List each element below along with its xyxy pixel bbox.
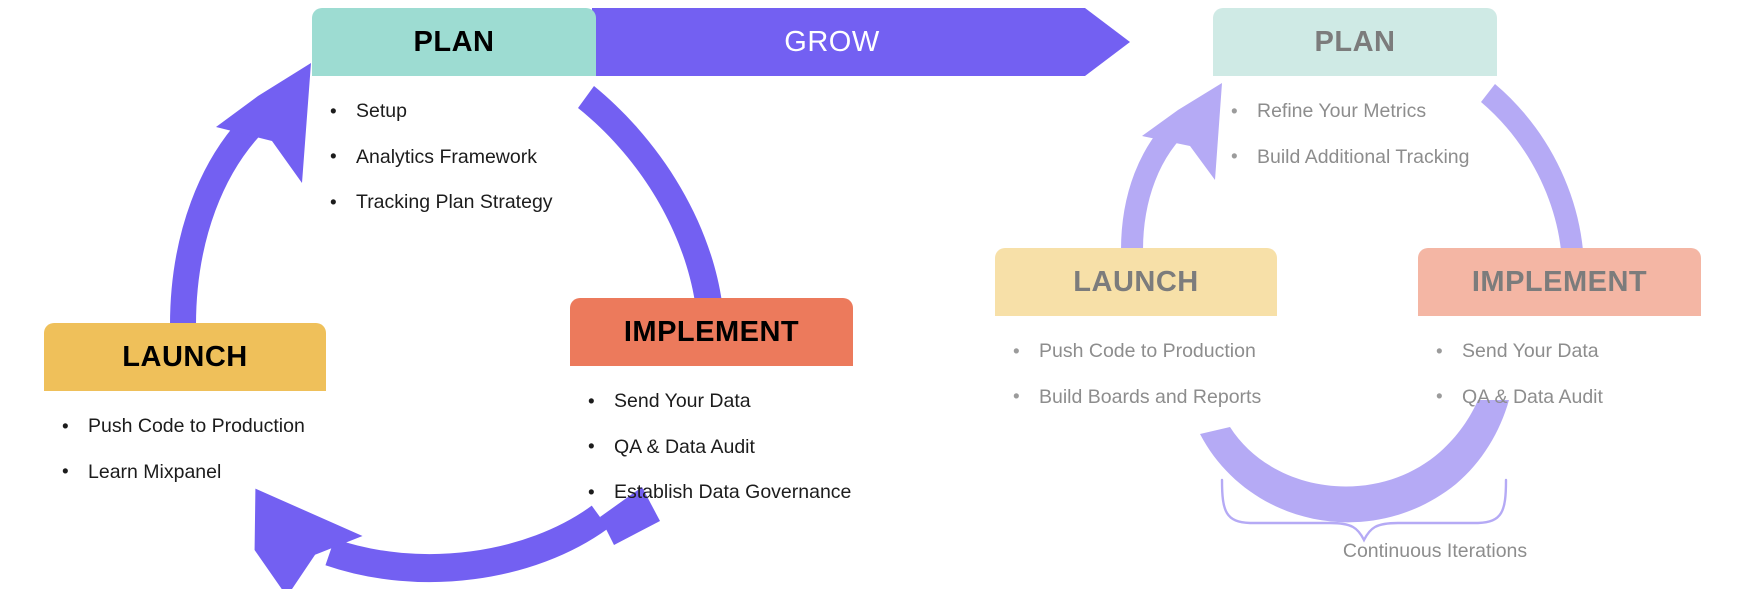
list-item: •Establish Data Governance bbox=[570, 483, 860, 503]
list-item: •Learn Mixpanel bbox=[44, 463, 334, 483]
stage-launch-next[interactable]: LAUNCH •Push Code to Production •Build B… bbox=[995, 248, 1285, 407]
stage-launch-active-title: LAUNCH bbox=[44, 323, 326, 391]
list-item: •Build Additional Tracking bbox=[1213, 148, 1503, 168]
stage-plan-next-title: PLAN bbox=[1213, 8, 1497, 76]
list-item: •Send Your Data bbox=[1418, 342, 1708, 362]
list-item-label: Learn Mixpanel bbox=[88, 461, 221, 483]
stage-plan-active-items: •Setup •Analytics Framework •Tracking Pl… bbox=[312, 102, 602, 213]
list-item: •QA & Data Audit bbox=[570, 438, 860, 458]
list-item-label: Send Your Data bbox=[614, 390, 751, 412]
bullet-icon: • bbox=[588, 483, 595, 502]
bullet-icon: • bbox=[1231, 102, 1238, 121]
bullet-icon: • bbox=[330, 148, 337, 167]
bullet-icon: • bbox=[588, 438, 595, 457]
stage-launch-active[interactable]: LAUNCH •Push Code to Production •Learn M… bbox=[44, 323, 334, 482]
list-item-label: QA & Data Audit bbox=[1462, 386, 1603, 408]
stage-implement-active[interactable]: IMPLEMENT •Send Your Data •QA & Data Aud… bbox=[570, 298, 860, 503]
list-item-label: Send Your Data bbox=[1462, 340, 1599, 362]
bullet-icon: • bbox=[1013, 388, 1020, 407]
stage-launch-next-title: LAUNCH bbox=[995, 248, 1277, 316]
continuous-iterations-brace bbox=[1222, 480, 1506, 540]
list-item-label: Refine Your Metrics bbox=[1257, 100, 1426, 122]
list-item: •Push Code to Production bbox=[995, 342, 1285, 362]
continuous-iterations-label: Continuous Iterations bbox=[1255, 540, 1615, 563]
list-item: •Push Code to Production bbox=[44, 417, 334, 437]
stage-plan-next-items: •Refine Your Metrics •Build Additional T… bbox=[1213, 102, 1503, 167]
stage-implement-active-title: IMPLEMENT bbox=[570, 298, 853, 366]
bullet-icon: • bbox=[330, 193, 337, 212]
list-item: •Build Boards and Reports bbox=[995, 388, 1285, 408]
stage-launch-active-items: •Push Code to Production •Learn Mixpanel bbox=[44, 417, 334, 482]
stage-implement-next-title: IMPLEMENT bbox=[1418, 248, 1701, 316]
list-item: •Analytics Framework bbox=[312, 148, 602, 168]
grow-banner-label: GROW bbox=[592, 8, 1072, 76]
list-item-label: Build Boards and Reports bbox=[1039, 386, 1261, 408]
list-item-label: QA & Data Audit bbox=[614, 436, 755, 458]
list-item: •Setup bbox=[312, 102, 602, 122]
list-item-label: Push Code to Production bbox=[88, 415, 305, 437]
stage-launch-next-items: •Push Code to Production •Build Boards a… bbox=[995, 342, 1285, 407]
list-item: •Refine Your Metrics bbox=[1213, 102, 1503, 122]
list-item-label: Setup bbox=[356, 100, 407, 122]
list-item-label: Build Additional Tracking bbox=[1257, 146, 1469, 168]
list-item: •Send Your Data bbox=[570, 392, 860, 412]
list-item: •Tracking Plan Strategy bbox=[312, 193, 602, 213]
arrow-implement-to-launch-ghost bbox=[1200, 400, 1509, 522]
list-item: •QA & Data Audit bbox=[1418, 388, 1708, 408]
arrow-launch-to-plan-ghost bbox=[1132, 83, 1222, 250]
stage-implement-next-items: •Send Your Data •QA & Data Audit bbox=[1418, 342, 1708, 407]
stage-plan-active-title: PLAN bbox=[312, 8, 596, 76]
stage-plan-active[interactable]: PLAN •Setup •Analytics Framework •Tracki… bbox=[312, 8, 602, 213]
stage-plan-next[interactable]: PLAN •Refine Your Metrics •Build Additio… bbox=[1213, 8, 1503, 167]
bullet-icon: • bbox=[1436, 342, 1443, 361]
arrow-launch-to-plan-active bbox=[183, 63, 311, 325]
bullet-icon: • bbox=[588, 392, 595, 411]
list-item-label: Push Code to Production bbox=[1039, 340, 1256, 362]
bullet-icon: • bbox=[1231, 148, 1238, 167]
bullet-icon: • bbox=[62, 463, 69, 482]
stage-implement-next[interactable]: IMPLEMENT •Send Your Data •QA & Data Aud… bbox=[1418, 248, 1708, 407]
bullet-icon: • bbox=[330, 102, 337, 121]
diagram-canvas: GROW PLAN •Setup •Analytics Framework •T… bbox=[0, 0, 1740, 589]
bullet-icon: • bbox=[1013, 342, 1020, 361]
list-item-label: Tracking Plan Strategy bbox=[356, 191, 553, 213]
bullet-icon: • bbox=[1436, 388, 1443, 407]
list-item-label: Establish Data Governance bbox=[614, 481, 851, 503]
list-item-label: Analytics Framework bbox=[356, 146, 537, 168]
grow-banner: GROW bbox=[592, 8, 1130, 76]
bullet-icon: • bbox=[62, 417, 69, 436]
stage-implement-active-items: •Send Your Data •QA & Data Audit •Establ… bbox=[570, 392, 860, 503]
